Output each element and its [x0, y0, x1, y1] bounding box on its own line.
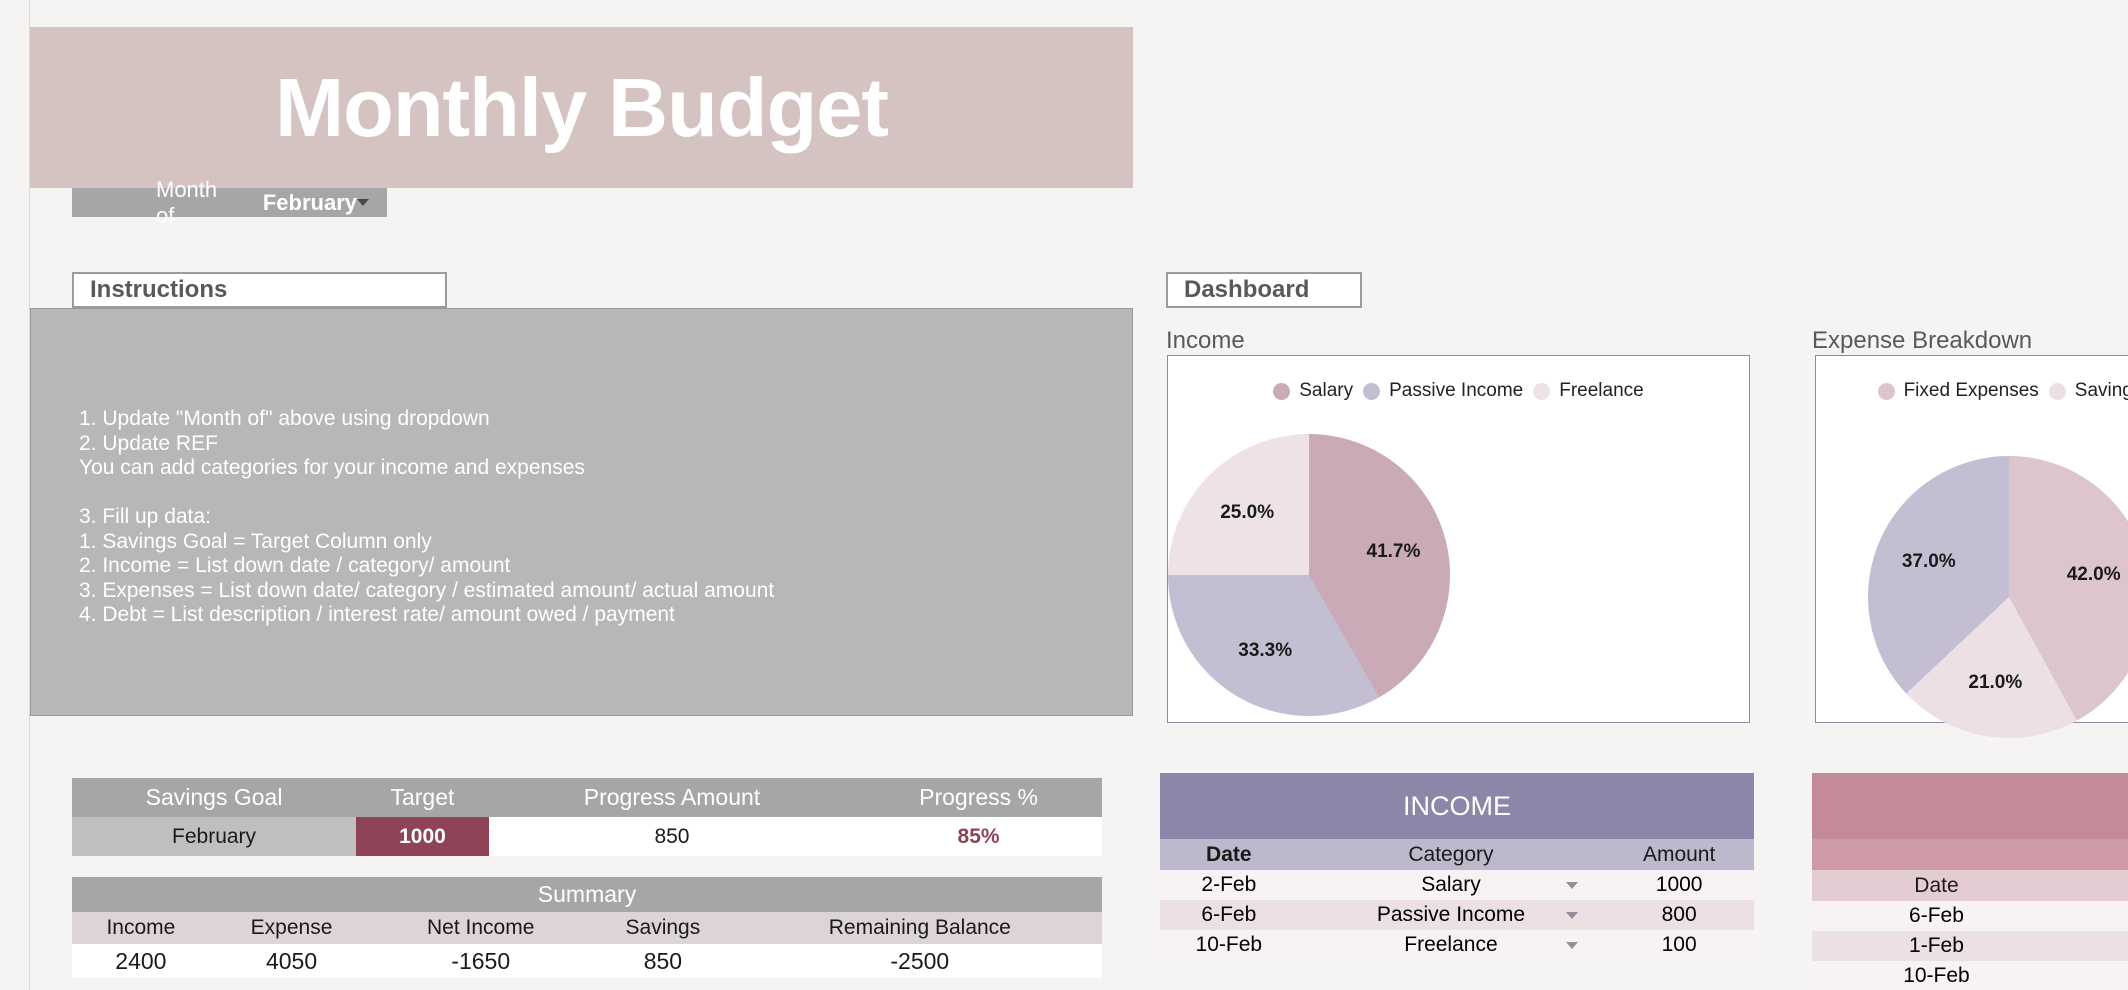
income-header-row: Date Category Amount — [1160, 839, 1754, 870]
table-row[interactable]: 6-Feb Passive Income 800 — [1160, 900, 1754, 930]
summary-title: Summary — [72, 877, 1102, 912]
expense-banner-row — [1812, 773, 2128, 839]
expense-banner-sub-row: Fixed — [1812, 839, 2128, 870]
savings-goal-header-progress-amount: Progress Amount — [489, 778, 855, 817]
instruction-line: 3. Expenses = List down date/ category /… — [79, 579, 1132, 604]
savings-goal-month-cell[interactable]: February — [72, 817, 356, 856]
expense-header-category: Category — [2061, 870, 2128, 901]
income-row-amount[interactable]: 800 — [1604, 900, 1754, 930]
legend-swatch-icon — [1878, 383, 1895, 400]
savings-goal-progress-pct-cell: 85% — [855, 817, 1102, 856]
savings-goal-header-row: Savings Goal Target Progress Amount Prog… — [72, 778, 1102, 817]
income-row-date[interactable]: 2-Feb — [1160, 870, 1298, 900]
savings-goal-header-name: Savings Goal — [72, 778, 356, 817]
summary-table: Summary Income Expense Net Income Saving… — [72, 877, 1102, 978]
instruction-line: 2. Income = List down date / category/ a… — [79, 554, 1132, 579]
instruction-spacer — [79, 481, 1132, 506]
summary-value-remaining-balance: -2500 — [738, 944, 1102, 978]
instruction-line: 2. Update REF — [79, 432, 1132, 457]
pie-slice-label: 33.3% — [1238, 640, 1292, 662]
income-banner-label: INCOME — [1160, 773, 1754, 839]
expense-row-category[interactable]: Insurance — [2061, 901, 2128, 931]
dashboard-tab[interactable]: Dashboard — [1166, 272, 1362, 308]
table-row[interactable]: 10-Feb Rent — [1812, 961, 2128, 990]
legend-swatch-icon — [1273, 383, 1290, 400]
income-banner-row: INCOME — [1160, 773, 1754, 839]
legend-item: Savings — [2049, 380, 2128, 402]
legend-swatch-icon — [2049, 383, 2066, 400]
instruction-line: 3. Fill up data: — [79, 505, 1132, 530]
income-pie-chart[interactable]: SalaryPassive IncomeFreelance 41.7%33.3%… — [1167, 355, 1750, 723]
expense-header-date: Date — [1812, 870, 2061, 901]
pie-graphic: 42.0%21.0%37.0% — [1868, 456, 2128, 738]
instruction-line: You can add categories for your income a… — [79, 456, 1132, 481]
expense-pie-area: 42.0%21.0%37.0% — [1816, 456, 2128, 738]
expense-chart-caption: Expense Breakdown — [1812, 327, 2032, 355]
legend-label: Fixed Expenses — [1904, 380, 2039, 402]
expense-chart-legend: Fixed ExpensesSavingsVariable Expenses — [1816, 380, 2128, 402]
legend-item: Freelance — [1533, 380, 1644, 402]
legend-label: Passive Income — [1389, 380, 1523, 402]
income-row-amount[interactable]: 1000 — [1604, 870, 1754, 900]
legend-item: Salary — [1273, 380, 1353, 402]
table-row[interactable]: 6-Feb Insurance — [1812, 901, 2128, 931]
income-row-date[interactable]: 10-Feb — [1160, 930, 1298, 960]
summary-value-expense: 4050 — [210, 944, 374, 978]
month-of-label: Month of — [72, 177, 239, 229]
month-selected-value: February — [239, 190, 357, 216]
income-pie-area: 41.7%33.3%25.0% — [1168, 434, 1749, 716]
savings-goal-header-target: Target — [356, 778, 489, 817]
savings-goal-table: Savings Goal Target Progress Amount Prog… — [72, 778, 1102, 856]
instruction-line: 1. Update "Month of" above using dropdow… — [79, 407, 1132, 432]
summary-title-row: Summary — [72, 877, 1102, 912]
income-chart-legend: SalaryPassive IncomeFreelance — [1168, 380, 1749, 402]
pie-slice-label: 21.0% — [1968, 672, 2022, 694]
summary-value-income: 2400 — [72, 944, 210, 978]
savings-goal-progress-amount-cell[interactable]: 850 — [489, 817, 855, 856]
legend-label: Freelance — [1559, 380, 1644, 402]
income-row-amount[interactable]: 100 — [1604, 930, 1754, 960]
income-header-category: Category — [1298, 839, 1605, 870]
legend-item: Fixed Expenses — [1878, 380, 2039, 402]
summary-header-income: Income — [72, 912, 210, 944]
pie-slice-label: 41.7% — [1367, 541, 1421, 563]
expense-banner — [1812, 773, 2128, 839]
savings-goal-target-cell[interactable]: 1000 — [356, 817, 489, 856]
pie-graphic: 41.7%33.3%25.0% — [1168, 434, 1450, 716]
income-table: INCOME Date Category Amount 2-Feb Salary… — [1160, 773, 1754, 960]
month-selector[interactable]: Month of February — [72, 188, 387, 217]
chevron-down-icon[interactable] — [1566, 882, 1578, 889]
expense-row-category[interactable]: Rent — [2061, 961, 2128, 990]
expense-pie-chart[interactable]: Fixed ExpensesSavingsVariable Expenses 4… — [1815, 355, 2128, 723]
instructions-panel: 1. Update "Month of" above using dropdow… — [30, 308, 1133, 716]
summary-header-row: Income Expense Net Income Savings Remain… — [72, 912, 1102, 944]
pie-slice-label: 37.0% — [1902, 551, 1956, 573]
table-row[interactable]: 10-Feb Freelance 100 — [1160, 930, 1754, 960]
dashboard-tab-label: Dashboard — [1168, 276, 1309, 304]
legend-label: Salary — [1299, 380, 1353, 402]
expense-table: Fixed Date Category 6-Feb Insurance 1-Fe… — [1812, 773, 2128, 990]
income-row-category[interactable]: Salary — [1298, 870, 1605, 900]
expense-row-date[interactable]: 10-Feb — [1812, 961, 2061, 990]
income-chart-caption: Income — [1166, 327, 1245, 355]
chevron-down-icon[interactable] — [1566, 942, 1578, 949]
expense-row-date[interactable]: 1-Feb — [1812, 931, 2061, 961]
instruction-line: 4. Debt = List description / interest ra… — [79, 603, 1132, 628]
income-row-category[interactable]: Freelance — [1298, 930, 1605, 960]
summary-value-net-income: -1650 — [373, 944, 588, 978]
instructions-tab[interactable]: Instructions — [72, 272, 447, 308]
expense-row-category[interactable]: Utilities — [2061, 931, 2128, 961]
page-title-banner: Monthly Budget — [30, 27, 1133, 188]
row-header-gutter — [0, 0, 30, 990]
legend-swatch-icon — [1533, 383, 1550, 400]
summary-header-net-income: Net Income — [373, 912, 588, 944]
income-row-category-text: Salary — [1421, 873, 1481, 896]
expense-header-row: Date Category — [1812, 870, 2128, 901]
legend-label: Savings — [2075, 380, 2128, 402]
savings-goal-header-progress-pct: Progress % — [855, 778, 1102, 817]
expense-banner-sub-label: Fixed — [1812, 839, 2128, 870]
summary-value-row: 2400 4050 -1650 850 -2500 — [72, 944, 1102, 978]
instructions-tab-label: Instructions — [74, 276, 227, 304]
income-header-amount: Amount — [1604, 839, 1754, 870]
income-row-category-text: Freelance — [1404, 933, 1497, 956]
income-row-category[interactable]: Passive Income — [1298, 900, 1605, 930]
income-row-category-text: Passive Income — [1377, 903, 1525, 926]
summary-header-expense: Expense — [210, 912, 374, 944]
legend-item: Passive Income — [1363, 380, 1523, 402]
savings-goal-value-row: February 1000 850 85% — [72, 817, 1102, 856]
expense-row-date[interactable]: 6-Feb — [1812, 901, 2061, 931]
page-title: Monthly Budget — [275, 66, 888, 149]
table-row[interactable]: 2-Feb Salary 1000 — [1160, 870, 1754, 900]
instruction-line: 1. Savings Goal = Target Column only — [79, 530, 1132, 555]
pie-slice-label: 42.0% — [2067, 564, 2121, 586]
chevron-down-icon[interactable] — [357, 199, 369, 206]
summary-header-remaining-balance: Remaining Balance — [738, 912, 1102, 944]
chevron-down-icon[interactable] — [1566, 912, 1578, 919]
legend-swatch-icon — [1363, 383, 1380, 400]
table-row[interactable]: 1-Feb Utilities — [1812, 931, 2128, 961]
pie-slice-label: 25.0% — [1220, 502, 1274, 524]
summary-header-savings: Savings — [588, 912, 737, 944]
income-header-date: Date — [1160, 839, 1298, 870]
income-row-date[interactable]: 6-Feb — [1160, 900, 1298, 930]
summary-value-savings: 850 — [588, 944, 737, 978]
